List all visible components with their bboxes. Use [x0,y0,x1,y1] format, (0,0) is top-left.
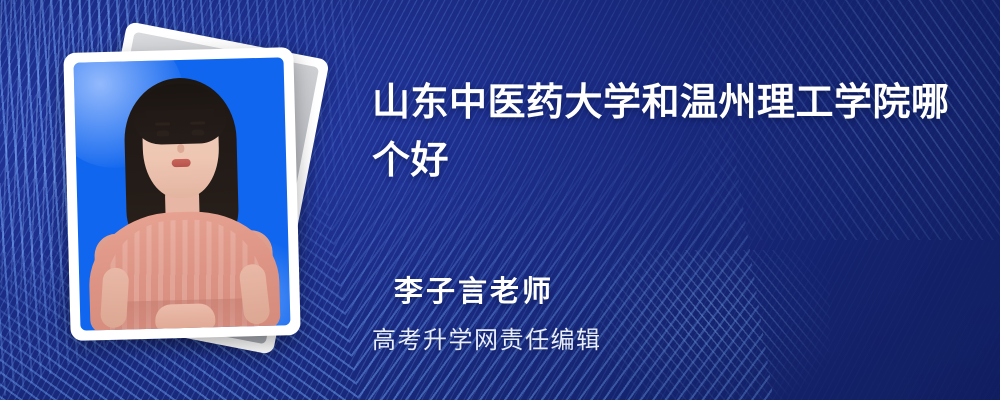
article-title: 山东中医药大学和温州理工学院哪个好 [372,74,966,190]
photo-card-front [63,47,300,341]
portrait-nose [177,144,184,153]
author-portrait-photo [74,57,291,330]
portrait-eye-right [191,129,204,135]
portrait-hands [155,303,216,331]
author-name: 李子言老师 [394,268,554,310]
portrait-eye-left [156,130,169,136]
portrait-figure [74,57,291,330]
author-role: 高考升学网责任编辑 [372,320,602,355]
portrait-arm-left [100,267,130,328]
portrait-eyebrow-left [155,122,170,125]
photo-card-stack [55,28,345,368]
article-cover-banner: 山东中医药大学和温州理工学院哪个好 李子言老师 高考升学网责任编辑 [0,0,1000,400]
portrait-mouth [172,159,191,167]
portrait-eyebrow-right [190,121,205,124]
cover-text-block: 山东中医药大学和温州理工学院哪个好 李子言老师 高考升学网责任编辑 [372,0,966,400]
